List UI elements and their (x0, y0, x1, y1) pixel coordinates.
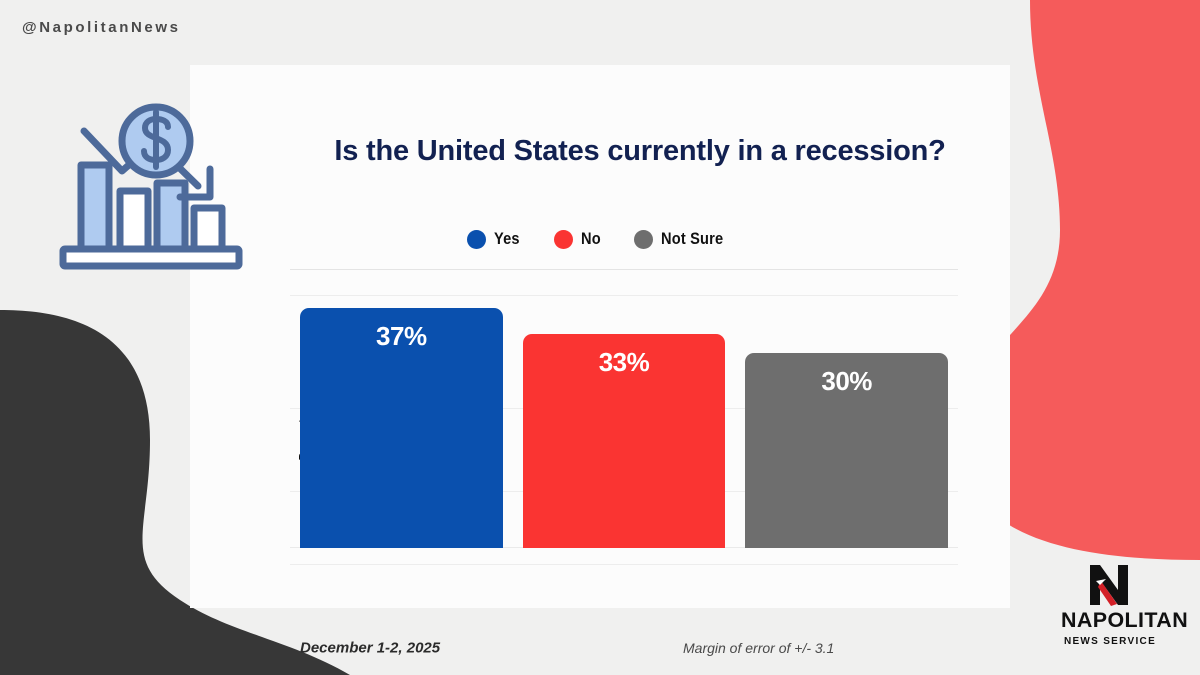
legend-item-yes[interactable]: Yes (467, 229, 524, 249)
icon-bar-1 (81, 165, 109, 249)
bar-no[interactable]: 33% (523, 334, 726, 548)
logo-tagline: NEWS SERVICE (1062, 636, 1158, 647)
bar-group: 37% 33% 30% (290, 275, 958, 548)
bar-slot-not-sure: 30% (735, 275, 958, 548)
legend-item-no[interactable]: No (554, 229, 604, 249)
logo-wordmark: NAPOLITAN (1061, 609, 1159, 633)
legend-label-not-sure: Not Sure (661, 229, 723, 249)
bar-value-yes: 37% (376, 321, 427, 352)
plot-area: Percentages 37% 33% 30% (290, 275, 958, 578)
chart-title: Is the United States currently in a rece… (290, 135, 990, 168)
icon-bar-4 (194, 208, 222, 249)
bar-value-not-sure: 30% (821, 366, 872, 397)
bar-not-sure[interactable]: 30% (745, 353, 948, 548)
legend-dot-yes (467, 230, 486, 249)
legend-item-not-sure[interactable]: Not Sure (634, 229, 733, 249)
chart-card: Is the United States currently in a rece… (190, 65, 1010, 608)
social-handle: @NapolitanNews (22, 19, 181, 36)
bar-slot-yes: 37% (290, 275, 513, 548)
recession-chart-icon (58, 103, 244, 275)
napolitan-logo[interactable]: NAPOLITAN NEWS SERVICE (1062, 563, 1158, 647)
logo-n-icon (1084, 563, 1136, 607)
gridline-10 (290, 564, 958, 565)
legend-divider (290, 269, 958, 270)
margin-of-error: Margin of error of +/- 3.1 (683, 640, 834, 656)
chart-legend: Yes No Not Sure (190, 229, 1010, 249)
icon-bar-2 (120, 191, 148, 249)
icon-base (63, 249, 239, 266)
legend-label-yes: Yes (494, 229, 520, 249)
poll-date: December 1-2, 2025 (300, 640, 440, 657)
icon-bar-3 (157, 183, 185, 249)
bar-value-no: 33% (599, 347, 650, 378)
bar-slot-no: 33% (513, 275, 736, 548)
legend-dot-no (554, 230, 573, 249)
bar-yes[interactable]: 37% (300, 308, 503, 548)
legend-label-no: No (581, 229, 601, 249)
legend-dot-not-sure (634, 230, 653, 249)
